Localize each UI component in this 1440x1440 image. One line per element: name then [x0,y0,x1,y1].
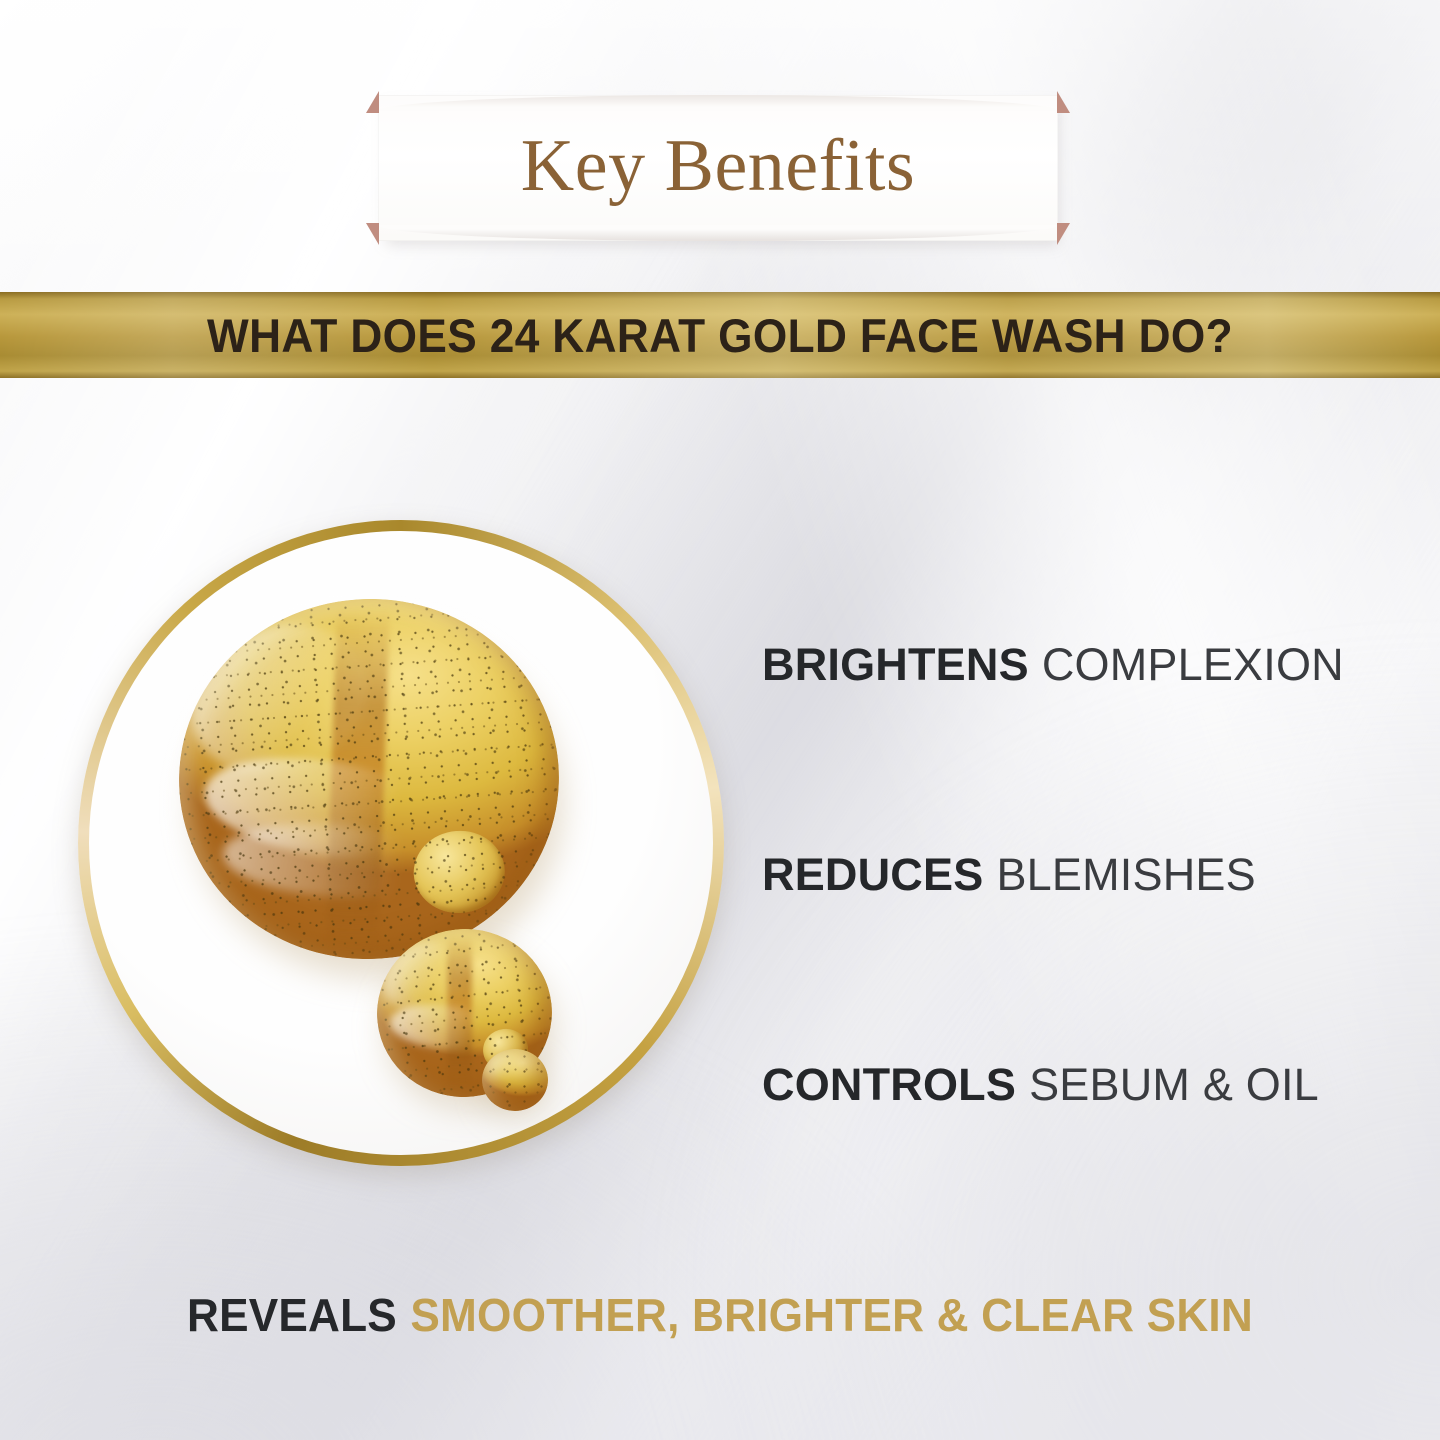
benefit-item-controls: CONTROLS SEBUM & OIL [762,980,1382,1190]
tagline-lead: REVEALS [187,1289,397,1341]
product-benefits-page: Key Benefits WHAT DOES 24 KARAT GOLD FAC… [0,0,1440,1440]
banner-corner-fold-top-right [1057,91,1070,113]
benefit-keyword: REDUCES [762,849,983,901]
banner-sheet: Key Benefits [378,95,1058,241]
banner-corner-fold-bottom-right [1057,223,1070,245]
circle-interior [89,531,713,1155]
benefit-keyword: CONTROLS [762,1059,1016,1111]
headline-text: WHAT DOES 24 KARAT GOLD FACE WASH DO? [43,292,1397,378]
gel-amber-rim [482,1049,548,1111]
headline-gold-bar: WHAT DOES 24 KARAT GOLD FACE WASH DO? [0,292,1440,378]
benefit-keyword: BRIGHTENS [762,639,1029,691]
benefit-item-brightens: BRIGHTENS COMPLEXION [762,560,1382,770]
benefit-detail: COMPLEXION [1042,639,1344,691]
benefits-list: BRIGHTENS COMPLEXION REDUCES BLEMISHES C… [762,560,1382,1190]
small-gel-droplet [482,1049,548,1111]
page-title: Key Benefits [378,95,1058,241]
benefit-item-reduces: REDUCES BLEMISHES [762,770,1382,980]
benefit-detail: BLEMISHES [996,849,1255,901]
key-benefits-banner: Key Benefits [378,95,1058,241]
bottom-tagline: REVEALSSMOOTHER, BRIGHTER & CLEAR SKIN [29,1288,1411,1342]
gold-circle-visual [78,520,724,1166]
tagline-highlight: SMOOTHER, BRIGHTER & CLEAR SKIN [410,1289,1253,1341]
benefit-detail: SEBUM & OIL [1029,1059,1319,1111]
